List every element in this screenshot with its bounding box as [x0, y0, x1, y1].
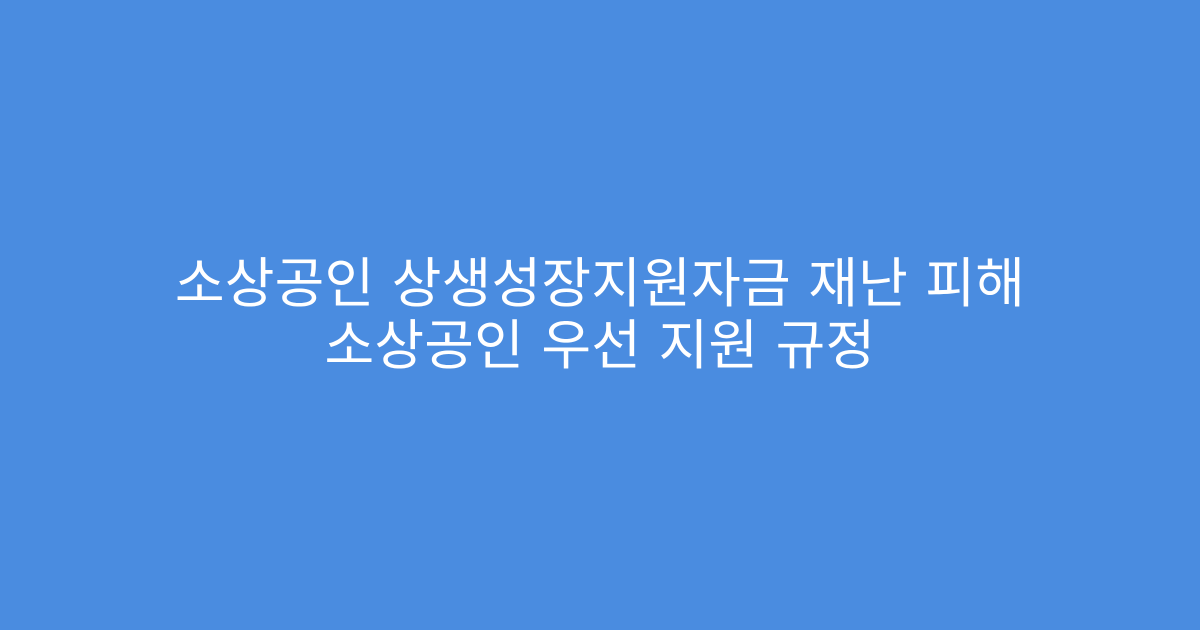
- og-share-card: 소상공인 상생성장지원자금 재난 피해 소상공인 우선 지원 규정: [0, 0, 1200, 630]
- page-title: 소상공인 상생성장지원자금 재난 피해 소상공인 우선 지원 규정: [78, 253, 1122, 377]
